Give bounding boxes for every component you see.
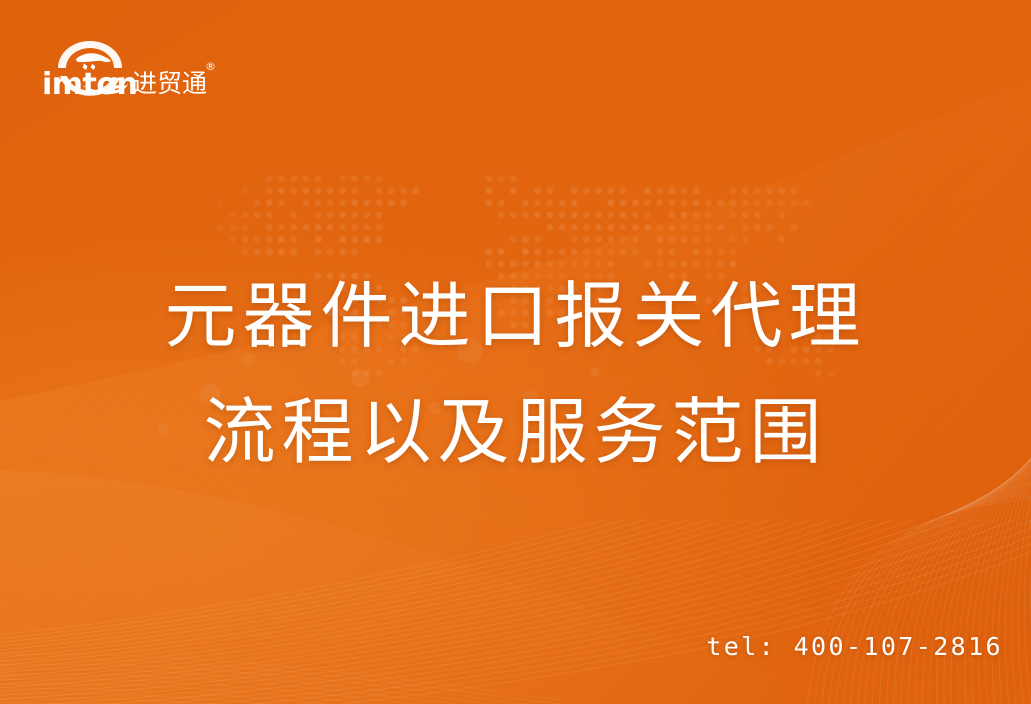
background-decoration (0, 0, 1031, 704)
registered-trademark-icon: ® (205, 60, 216, 73)
logo-svg: imton 进贸通 ® (40, 32, 216, 104)
logo-chinese-name: 进贸通 (132, 69, 207, 98)
logo-wordmark: imton (42, 67, 137, 102)
marketing-banner: imton 进贸通 ® 元器件进口报关代理 流程以及服务范围 tel: 400-… (0, 0, 1031, 704)
contact-phone[interactable]: tel: 400-107-2816 (706, 632, 1003, 661)
logo[interactable]: imton 进贸通 ® (40, 32, 216, 104)
